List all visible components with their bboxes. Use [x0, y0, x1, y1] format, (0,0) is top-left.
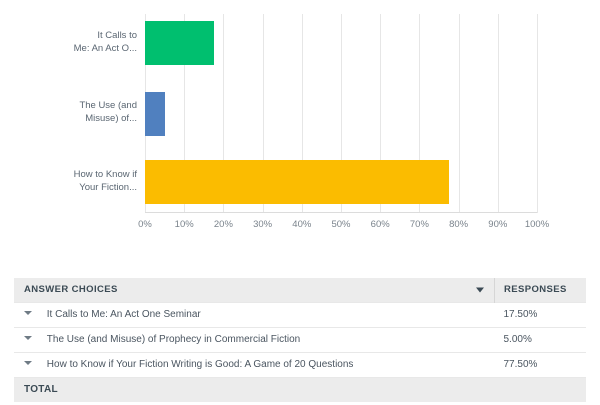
chart-axis-baseline	[145, 212, 537, 213]
table-row[interactable]: How to Know if Your Fiction Writing is G…	[14, 352, 586, 377]
column-header-responses-label: RESPONSES	[504, 284, 567, 295]
chart-category-axis: It Calls to Me: An Act O... The Use (and…	[0, 14, 137, 213]
chart-category-label: How to Know if Your Fiction...	[0, 169, 137, 194]
chart-x-tick-label: 60%	[371, 219, 390, 230]
table-cell-answer-choice: How to Know if Your Fiction Writing is G…	[14, 352, 495, 377]
chart-gridline	[459, 14, 460, 213]
chart-x-tick-label: 70%	[410, 219, 429, 230]
answer-choice-label: How to Know if Your Fiction Writing is G…	[47, 359, 354, 370]
chart-plot-area	[145, 14, 537, 213]
caret-down-icon[interactable]	[476, 287, 484, 292]
chart-x-tick-label: 40%	[292, 219, 311, 230]
chart-panel: It Calls to Me: An Act O... The Use (and…	[0, 0, 600, 248]
table-row[interactable]: It Calls to Me: An Act One Seminar 17.50…	[14, 302, 586, 327]
chart-gridline	[498, 14, 499, 213]
column-header-responses[interactable]: RESPONSES	[495, 278, 587, 302]
results-table: ANSWER CHOICES RESPONSES It Calls to Me:…	[14, 278, 586, 402]
chart-gridline	[537, 14, 538, 213]
total-value	[495, 377, 587, 402]
caret-down-icon[interactable]	[24, 311, 32, 315]
table-cell-response: 5.00%	[495, 327, 587, 352]
chart-category-label: It Calls to Me: An Act O...	[0, 30, 137, 55]
answer-choice-label: It Calls to Me: An Act One Seminar	[47, 309, 201, 320]
chart-x-tick-label: 100%	[525, 219, 549, 230]
chart-x-tick-label: 20%	[214, 219, 233, 230]
table-cell-answer-choice: The Use (and Misuse) of Prophecy in Comm…	[14, 327, 495, 352]
chart-bar	[145, 21, 214, 65]
chart-x-tick-label: 80%	[449, 219, 468, 230]
caret-down-icon[interactable]	[24, 336, 32, 340]
total-label: TOTAL	[14, 377, 495, 402]
chart-value-axis: 0%10%20%30%40%50%60%70%80%90%100%	[145, 219, 537, 235]
chart-x-tick-label: 30%	[253, 219, 272, 230]
chart-x-tick-label: 0%	[138, 219, 152, 230]
table-row[interactable]: The Use (and Misuse) of Prophecy in Comm…	[14, 327, 586, 352]
table-cell-answer-choice: It Calls to Me: An Act One Seminar	[14, 302, 495, 327]
chart-x-tick-label: 50%	[331, 219, 350, 230]
table-cell-response: 77.50%	[495, 352, 587, 377]
table-total-row: TOTAL	[14, 377, 586, 402]
answer-choice-label: The Use (and Misuse) of Prophecy in Comm…	[47, 334, 300, 345]
bar-chart: It Calls to Me: An Act O... The Use (and…	[0, 0, 600, 248]
table-cell-response: 17.50%	[495, 302, 587, 327]
chart-x-tick-label: 90%	[488, 219, 507, 230]
chart-category-label: The Use (and Misuse) of...	[0, 100, 137, 125]
table-header-row: ANSWER CHOICES RESPONSES	[14, 278, 586, 302]
column-header-answer-choices[interactable]: ANSWER CHOICES	[14, 278, 495, 302]
chart-x-tick-label: 10%	[175, 219, 194, 230]
chart-bar	[145, 160, 449, 204]
chart-bar	[145, 92, 165, 136]
caret-down-icon[interactable]	[24, 361, 32, 365]
column-header-answer-choices-label: ANSWER CHOICES	[24, 284, 118, 295]
